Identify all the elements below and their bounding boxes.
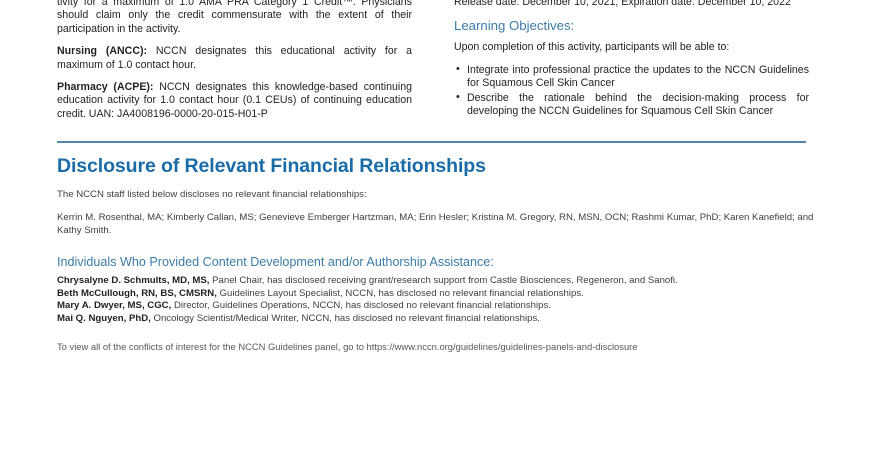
list-item: Describe the rationale behind the decisi… [467, 92, 809, 119]
authorship-heading: Individuals Who Provided Content Develop… [57, 255, 817, 270]
list-item: Beth McCullough, RN, BS, CMSRN, Guidelin… [57, 288, 817, 301]
person-name: Mary A. Dwyer, MS, CGC, [57, 300, 171, 311]
person-detail: Director, Guidelines Operations, NCCN, h… [171, 300, 551, 311]
section-divider [57, 141, 806, 143]
accreditation-column: tivity for a maximum of 1.0 AMA PRA Cate… [57, 0, 412, 130]
list-item: Chrysalyne D. Schmults, MD, MS, Panel Ch… [57, 275, 817, 288]
person-name: Beth McCullough, RN, BS, CMSRN, [57, 288, 217, 299]
person-detail: Panel Chair, has disclosed receiving gra… [209, 275, 677, 286]
staff-intro-text: The NCCN staff listed below discloses no… [57, 188, 817, 201]
person-detail: Guidelines Layout Specialist, NCCN, has … [217, 288, 584, 299]
person-name: Mai Q. Nguyen, PhD, [57, 313, 151, 324]
learning-objectives-column: Release date: December 10, 2021; Expirat… [454, 0, 809, 130]
release-expiration-dates: Release date: December 10, 2021; Expirat… [454, 0, 809, 9]
page-title: Disclosure of Relevant Financial Relatio… [57, 155, 817, 178]
physicians-paragraph-continued: tivity for a maximum of 1.0 AMA PRA Cate… [57, 0, 412, 36]
learning-objectives-heading: Learning Objectives: [454, 18, 809, 34]
learning-objectives-intro: Upon completion of this activity, partic… [454, 41, 809, 54]
pharmacy-paragraph: Pharmacy (ACPE): NCCN designates this kn… [57, 81, 412, 121]
nursing-paragraph: Nursing (ANCC): NCCN designates this edu… [57, 45, 412, 72]
list-item: Mai Q. Nguyen, PhD, Oncology Scientist/M… [57, 313, 817, 326]
list-item: Mary A. Dwyer, MS, CGC, Director, Guidel… [57, 300, 817, 313]
conflicts-of-interest-footnote: To view all of the conflicts of interest… [57, 341, 817, 354]
document-page: tivity for a maximum of 1.0 AMA PRA Cate… [0, 0, 870, 457]
learning-objectives-list: Integrate into professional practice the… [454, 64, 809, 119]
pharmacy-label: Pharmacy (ACPE): [57, 81, 153, 93]
nursing-label: Nursing (ANCC): [57, 45, 147, 57]
top-columns: tivity for a maximum of 1.0 AMA PRA Cate… [57, 0, 809, 130]
list-item: Integrate into professional practice the… [467, 64, 809, 91]
authorship-people-list: Chrysalyne D. Schmults, MD, MS, Panel Ch… [57, 275, 817, 325]
person-name: Chrysalyne D. Schmults, MD, MS, [57, 275, 209, 286]
staff-disclosure-list: Kerrin M. Rosenthal, MA; Kimberly Callan… [57, 211, 817, 237]
disclosure-section: Disclosure of Relevant Financial Relatio… [57, 155, 817, 354]
person-detail: Oncology Scientist/Medical Writer, NCCN,… [151, 313, 540, 324]
